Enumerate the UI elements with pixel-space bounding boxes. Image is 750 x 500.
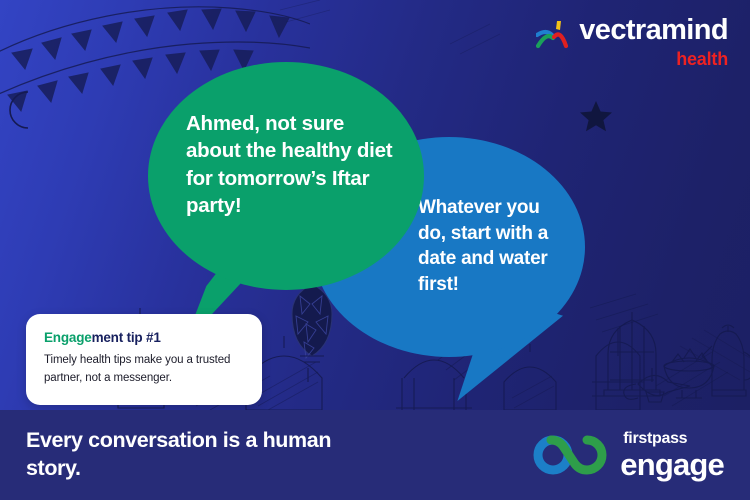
brand-name: vectramind [579,16,728,45]
footer-bar: Every conversation is a human story. fir… [0,410,750,500]
vectramind-flame-mark-icon [536,19,570,51]
tip-body: Timely health tips make you a trusted pa… [44,352,244,388]
tip-title-highlight: Engage [44,330,92,345]
vectramind-logo: vectramind health [536,16,728,68]
firstpass-engage-logo: firstpass engage [532,431,724,480]
speech-bubble-patient: Ahmed, not sure about the healthy diet f… [148,62,424,290]
brand-subname: health [676,50,728,68]
speech-bubble-text: Ahmed, not sure about the healthy diet f… [186,110,396,219]
firstpass-word: firstpass [623,431,724,447]
footer-tagline: Every conversation is a human story. [26,427,356,482]
engage-word: engage [620,449,724,480]
engagement-tip-card: Engagement tip #1 Timely health tips mak… [26,314,262,405]
tip-title: Engagement tip #1 [44,330,244,345]
crescent-moon-small-icon [4,88,38,132]
tip-title-rest: ment tip #1 [92,330,161,345]
infinity-rings-mark-icon [532,433,608,477]
speech-bubble-text: Whatever you do, start with a date and w… [418,195,566,298]
oil-lamp-icon [616,358,692,408]
birdcage-lantern-icon [600,306,664,398]
bowl-of-dates-icon [654,340,724,402]
poster-canvas: vectramind health Ahmed, not sure about … [0,0,750,500]
teapot-icon [700,322,750,402]
